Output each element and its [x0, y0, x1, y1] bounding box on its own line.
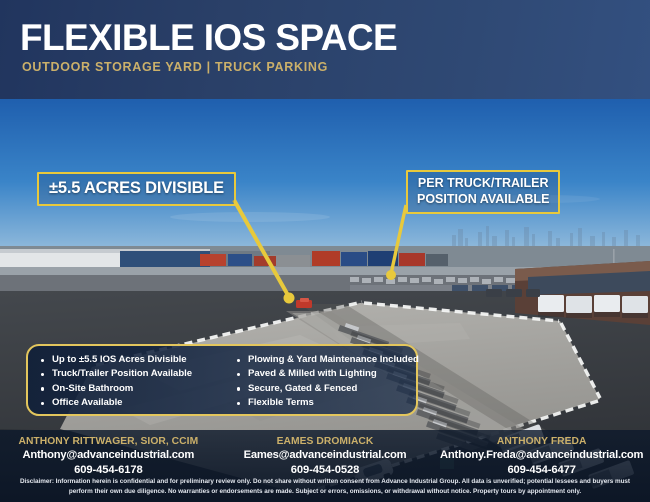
- disclaimer-text: Disclaimer: Information herein is confid…: [14, 477, 636, 496]
- page-title: FLEXIBLE IOS SPACE: [20, 17, 397, 58]
- callout-position-line2: POSITION AVAILABLE: [417, 192, 549, 208]
- feature-item: Paved & Milled with Lighting: [233, 367, 418, 381]
- features-column-left: Up to ±5.5 IOS Acres Divisible Truck/Tra…: [37, 353, 233, 408]
- callout-position-line1: PER TRUCK/TRAILER: [417, 176, 549, 192]
- contact-card: ANTHONY RITTWAGER, SIOR, CCIM Anthony@ad…: [0, 435, 217, 478]
- callout-per-truck-trailer: PER TRUCK/TRAILER POSITION AVAILABLE: [406, 170, 560, 214]
- contact-name: EAMES DROMIACK: [219, 435, 432, 448]
- callout-acres-label: ±5.5 ACRES DIVISIBLE: [49, 179, 224, 197]
- features-column-right: Plowing & Yard Maintenance Included Pave…: [233, 353, 418, 408]
- flyer-root: FLEXIBLE IOS SPACE OUTDOOR STORAGE YARD …: [0, 0, 650, 502]
- feature-item: Up to ±5.5 IOS Acres Divisible: [37, 353, 233, 367]
- contact-name: ANTHONY RITTWAGER, SIOR, CCIM: [2, 435, 215, 448]
- contact-email-link[interactable]: Anthony.Freda@advanceindustrial.com: [435, 448, 648, 463]
- feature-item: Flexible Terms: [233, 396, 418, 410]
- feature-item: On-Site Bathroom: [37, 382, 233, 396]
- features-box: Up to ±5.5 IOS Acres Divisible Truck/Tra…: [26, 344, 418, 416]
- feature-item: Truck/Trailer Position Available: [37, 367, 233, 381]
- contacts-row: ANTHONY RITTWAGER, SIOR, CCIM Anthony@ad…: [0, 435, 650, 478]
- feature-item: Office Available: [37, 396, 233, 410]
- contact-name: ANTHONY FREDA: [435, 435, 648, 448]
- contact-email-link[interactable]: Anthony@advanceindustrial.com: [2, 448, 215, 463]
- contact-phone-link[interactable]: 609-454-0528: [219, 463, 432, 478]
- callout-acres-divisible: ±5.5 ACRES DIVISIBLE: [37, 172, 236, 206]
- contact-phone-link[interactable]: 609-454-6178: [2, 463, 215, 478]
- page-subtitle: OUTDOOR STORAGE YARD | TRUCK PARKING: [22, 60, 328, 75]
- contact-card: EAMES DROMIACK Eames@advanceindustrial.c…: [217, 435, 434, 478]
- header-banner: FLEXIBLE IOS SPACE OUTDOOR STORAGE YARD …: [0, 0, 650, 99]
- feature-item: Plowing & Yard Maintenance Included: [233, 353, 418, 367]
- contact-email-link[interactable]: Eames@advanceindustrial.com: [219, 448, 432, 463]
- contact-card: ANTHONY FREDA Anthony.Freda@advanceindus…: [433, 435, 650, 478]
- contact-phone-link[interactable]: 609-454-6477: [435, 463, 648, 478]
- feature-item: Secure, Gated & Fenced: [233, 382, 418, 396]
